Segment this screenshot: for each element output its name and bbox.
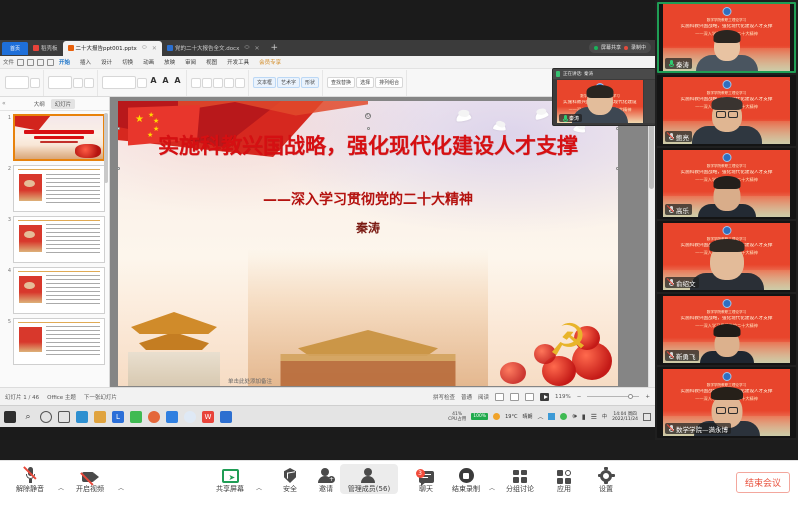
save-icon[interactable] [17, 59, 24, 66]
zoom-in-button[interactable]: + [645, 394, 650, 400]
ribbon-tab-design[interactable]: 设计 [96, 58, 117, 66]
decrease-font-icon[interactable]: A [160, 76, 171, 89]
p1-slide-line1: 数学学院教职工理论学习 [669, 91, 784, 96]
weather-text: 晴朗 [522, 413, 532, 420]
speaker-pip-window[interactable]: 正在讲话: 秦涛 数学学院教职工理论学习 实施科教兴国战略，强化现代化建设人才支… [552, 68, 655, 126]
participant-name-2: 高乐 [676, 205, 689, 215]
pip-video-feed: 数学学院教职工理论学习 实施科教兴国战略，强化现代化建设人才支撑 ——深入学习贯… [557, 80, 643, 123]
share-screen-icon: ➤ [222, 464, 239, 483]
ribbon-tab-animation[interactable]: 动画 [138, 58, 159, 66]
meeting-control-bar[interactable]: 解除静音 ︿ 开启视频 ︿ ➤ 共享屏幕 ︿ 安全 + 邀请 [0, 460, 798, 505]
chat-unread-badge: 3 [416, 469, 425, 478]
volume-icon[interactable]: 🕪 [572, 412, 576, 421]
control-apps[interactable]: 应用 [542, 464, 586, 494]
ribbon-group-drawing[interactable]: 文本框 艺术字 形状 [250, 70, 323, 96]
tab-close-icon[interactable]: ✕ [152, 45, 157, 52]
share-status-dot [594, 46, 598, 50]
selection-handle-br[interactable] [616, 127, 618, 130]
thumbnail-1[interactable]: 1 [4, 114, 105, 161]
textbox-button[interactable]: 文本框 [253, 77, 276, 88]
thumbnail-1-box[interactable] [13, 114, 105, 161]
p0-hair [713, 30, 740, 43]
ribbon-group-clipboard[interactable] [2, 70, 44, 96]
participant-name-3: 俞绍文 [676, 278, 696, 288]
thumbnail-4-preview [14, 268, 104, 313]
print-icon[interactable] [27, 59, 34, 66]
tab2-restore-icon[interactable]: ⬭ [244, 44, 249, 52]
thumbnail-3-number: 3 [4, 216, 11, 263]
control-start-video-label: 开启视频 [76, 484, 104, 494]
battery-indicator[interactable]: 100% [471, 413, 488, 420]
weather-temp: 19°C [505, 414, 517, 420]
participant-name-badge-4: 靳勇飞 [665, 350, 699, 361]
slideshow-button[interactable] [540, 393, 549, 401]
wps-home-tab[interactable]: 首页 [2, 42, 28, 55]
theme-indicator[interactable]: Office 主题 [47, 393, 76, 401]
participant-name-badge-1: 鲍亮 [665, 131, 692, 142]
thumbnail-5-number: 5 [4, 318, 11, 365]
control-stop-recording[interactable]: 结束录制 [444, 464, 488, 494]
ribbon-group-paragraph[interactable] [188, 70, 249, 96]
participant-name-badge-3: 俞绍文 [665, 277, 699, 288]
shared-desktop: 首页 稻壳板 二十大报告ppt001.pptx ⬭ ✕ 党的二十大报告全文.do… [0, 0, 655, 440]
thumbnail-2-preview [14, 166, 104, 211]
shield-icon [284, 464, 296, 483]
p4-hair [713, 324, 740, 337]
ime-mode[interactable]: 中 [602, 413, 607, 420]
mic-muted-icon-5 [668, 425, 674, 433]
zoom-meeting-window: 首页 稻壳板 二十大报告ppt001.pptx ⬭ ✕ 党的二十大报告全文.do… [0, 0, 798, 505]
current-slide[interactable]: ★ ★ ★ ★ ★ [118, 101, 618, 386]
participant-name-1: 鲍亮 [676, 132, 689, 142]
network-icon[interactable]: ▮ [582, 413, 586, 421]
p1-glasses-icon [716, 111, 738, 116]
chart-app-icon[interactable] [220, 411, 232, 423]
participant-tile-5[interactable]: 数学学院教职工理论学习 实施科教兴国战略，强化现代化建设人才支撑 ——深入学习贯… [657, 367, 796, 438]
spellcheck-label[interactable]: 拼写检查 [433, 393, 455, 401]
outline-tab[interactable]: 大纲 [34, 100, 45, 108]
stop-record-icon [459, 464, 474, 483]
unmute-caret-icon[interactable]: ︿ [58, 483, 64, 492]
mic-muted-icon-2 [668, 206, 674, 214]
ribbon-tab-slideshow[interactable]: 放映 [159, 58, 180, 66]
align-left-icon[interactable] [213, 78, 223, 88]
thumbnail-3-preview [14, 217, 104, 262]
docx-file-icon [167, 45, 173, 51]
control-security-label: 安全 [283, 484, 297, 494]
thumbnail-2-number: 2 [4, 165, 11, 212]
pip-mic-on-icon [562, 115, 567, 121]
thumbnail-5-box[interactable] [13, 318, 105, 365]
chat-icon: 3 [419, 464, 434, 483]
collapse-panel-icon[interactable]: « [2, 100, 6, 107]
thumbnail-scrollbar[interactable] [104, 113, 108, 183]
control-breakout-rooms[interactable]: 分组讨论 [498, 464, 542, 494]
slides-tab[interactable]: 幻灯片 [51, 99, 76, 109]
mic-muted-icon-1 [668, 133, 674, 141]
control-invite-label: 邀请 [319, 484, 333, 494]
canvas-scrollbar[interactable] [648, 97, 655, 387]
end-meeting-button[interactable]: 结束会议 [736, 472, 790, 493]
clear-format-icon[interactable]: A [172, 76, 183, 89]
control-apps-label: 应用 [557, 484, 571, 494]
next-slide-indicator[interactable]: 下一张幻灯片 [84, 393, 117, 401]
undo-icon[interactable] [37, 59, 44, 66]
zoom-slider[interactable] [587, 396, 639, 397]
font-family-select[interactable] [102, 76, 136, 89]
video-caret-icon[interactable]: ︿ [118, 483, 124, 492]
ime-menu-icon[interactable]: ☰ [591, 413, 597, 421]
paste-button[interactable] [5, 76, 29, 89]
thumbnail-list[interactable]: 1 [0, 111, 109, 387]
wechat-icon[interactable] [130, 411, 142, 423]
invite-person-icon: + [318, 464, 334, 483]
mic-muted-icon-4 [668, 352, 674, 360]
participant-name-badge-0: 秦涛 [665, 58, 692, 69]
control-manage-participants-label: 管理成员(56) [348, 484, 390, 494]
shared-screen-stage[interactable]: 首页 稻壳板 二十大报告ppt001.pptx ⬭ ✕ 党的二十大报告全文.do… [0, 0, 655, 440]
view-sorter-button[interactable] [510, 393, 519, 401]
thumbnail-5[interactable]: 5 [4, 318, 105, 365]
thumbnail-4[interactable]: 4 [4, 267, 105, 314]
p0-emblem-icon [722, 7, 731, 16]
participants-icon [361, 464, 377, 483]
slide-thumbnail-panel[interactable]: « 大纲 幻灯片 1 [0, 97, 110, 387]
pip-name: 秦涛 [569, 115, 579, 122]
search-icon[interactable]: ⌕ [22, 411, 34, 423]
pip-title-bar[interactable]: 正在讲话: 秦涛 [553, 69, 655, 79]
p0-slide-line1: 数学学院教职工理论学习 [669, 18, 784, 23]
wps-template-tab-label: 稻壳板 [41, 44, 58, 52]
notes-placeholder[interactable]: 单击此处添加备注 [228, 377, 272, 385]
ribbon-tab-review[interactable]: 审阅 [180, 58, 201, 66]
pip-mic-icon [556, 71, 560, 77]
tray-app-icon-2[interactable] [560, 413, 567, 420]
selection-handle-tr[interactable] [616, 167, 618, 170]
arrange-button[interactable]: 排列组合 [375, 77, 403, 88]
letterbox-bottom [0, 427, 655, 440]
align-center-icon[interactable] [224, 78, 234, 88]
shapes-button[interactable]: 形状 [301, 77, 319, 88]
tiananmen-gate-graphic [248, 249, 488, 386]
participant-name-4: 靳勇飞 [676, 351, 696, 361]
temple-of-heaven-graphic [126, 312, 222, 386]
task-view-icon[interactable] [58, 411, 70, 423]
p3-emblem-icon [722, 226, 731, 235]
thumbnail-4-box[interactable] [13, 267, 105, 314]
record-caret-icon[interactable]: ︿ [489, 483, 495, 492]
ribbon-tab-view[interactable]: 视图 [201, 58, 222, 66]
wps-doc-tab-ppt-label: 二十大报告ppt001.pptx [76, 44, 137, 52]
select-button[interactable]: 选择 [356, 77, 374, 88]
view-reading-button[interactable] [525, 393, 534, 401]
thumbnail-1-number: 1 [4, 114, 11, 161]
screen-share-indicator: 屏幕共享 录制中 [589, 42, 651, 53]
edge-icon[interactable] [184, 411, 196, 423]
ribbon-tab-developer[interactable]: 开发工具 [222, 58, 254, 66]
wps-tab-strip: 首页 稻壳板 二十大报告ppt001.pptx ⬭ ✕ 党的二十大报告全文.do… [0, 40, 655, 56]
font-size-select[interactable] [137, 78, 147, 88]
slide-subtitle: ——深入学习贯彻党的二十大精神 [140, 189, 596, 209]
slide-author: 秦涛 [140, 219, 596, 236]
control-chat[interactable]: 3 聊天 [404, 464, 448, 494]
breakout-rooms-icon [512, 464, 528, 483]
tray-expand-icon[interactable]: ︿ [537, 412, 543, 421]
p2-slide-line2: 实施科教兴国战略，强化现代化建设人才支撑 [669, 170, 784, 175]
view-normal-button[interactable] [495, 393, 504, 401]
letterbox-top [0, 0, 655, 40]
wps-template-tab[interactable]: 稻壳板 [28, 41, 63, 56]
quick-access-toolbar[interactable]: 文件 [0, 58, 54, 66]
status-right-group: 拼写检查 普通 阅读 119% − + [433, 393, 650, 401]
participant-tile-2[interactable]: 数学学院教职工理论学习 实施科教兴国战略，强化现代化建设人才支撑 ——深入学习贯… [657, 148, 796, 219]
action-center-icon[interactable] [643, 413, 651, 421]
find-replace-button[interactable]: 查找替换 [327, 77, 355, 88]
store-icon[interactable] [76, 411, 88, 423]
pip-side-controls[interactable] [644, 80, 655, 123]
thumbnail-2[interactable]: 2 [4, 165, 105, 212]
mic-muted-icon-3 [668, 279, 674, 287]
control-share-screen-label: 共享屏幕 [216, 484, 244, 494]
p4-emblem-icon [722, 299, 731, 308]
clock-date: 2022/11/24 [612, 417, 638, 422]
party-emblem-graphic: ☭ [542, 318, 594, 368]
participant-tile-3[interactable]: 数学学院教职工理论学习 实施科教兴国战略，强化现代化建设人才支撑 ——深入学习贯… [657, 221, 796, 292]
cpu-usage: 41% CPU占用 [448, 412, 466, 422]
participant-name-badge-5: 数学学院—满永博 [665, 423, 731, 434]
record-status-label: 录制中 [631, 44, 646, 51]
lark-icon[interactable]: L [112, 411, 124, 423]
record-status-dot [624, 46, 628, 50]
thumbnail-2-box[interactable] [13, 165, 105, 212]
mic-muted-icon [25, 464, 36, 483]
participant-tile-4[interactable]: 数学学院教职工理论学习 实施科教兴国战略，强化现代化建设人才支撑 ——深入学习贯… [657, 294, 796, 365]
new-tab-button[interactable]: + [271, 43, 279, 53]
new-slide-button[interactable] [48, 76, 72, 89]
control-share-screen[interactable]: ➤ 共享屏幕 [208, 464, 252, 494]
tray-app-icon-1[interactable] [548, 413, 555, 420]
browser-icon[interactable] [148, 411, 160, 423]
redo-icon[interactable] [47, 59, 54, 66]
share-status-label: 屏幕共享 [601, 44, 621, 51]
wordart-button[interactable]: 艺术字 [277, 77, 300, 88]
ribbon-tab-insert[interactable]: 插入 [75, 58, 96, 66]
file-explorer-icon[interactable] [94, 411, 106, 423]
thumbnail-3-box[interactable] [13, 216, 105, 263]
ribbon-tab-vip[interactable]: 会员专享 [254, 58, 286, 66]
wps-doc-tab-docx[interactable]: 党的二十大报告全文.docx ⬭ ✕ [162, 41, 265, 56]
system-tray: 41% CPU占用 100% 19°C 晴朗 ︿ 🕪 ▮ ☰ 中 14:04 周 [448, 412, 651, 422]
thumbnail-panel-header: 大纲 幻灯片 [0, 97, 109, 111]
slide-title: 实施科教兴国战略，强化现代化建设人才支撑 [140, 133, 596, 160]
layout-icon[interactable] [73, 78, 83, 88]
participant-tile-0[interactable]: 数学学院教职工理论学习 实施科教兴国战略，强化现代化建设人才支撑 ——深入学习贯… [657, 2, 796, 73]
reset-icon[interactable] [84, 78, 94, 88]
control-unmute-label: 解除静音 [16, 484, 44, 494]
zoom-level[interactable]: 119% [555, 394, 571, 400]
rotation-handle[interactable]: ↻ [365, 113, 371, 119]
participant-video-strip[interactable]: 数学学院教职工理论学习 实施科教兴国战略，强化现代化建设人才支撑 ——深入学习贯… [655, 0, 798, 440]
p2-hair [713, 176, 740, 189]
ribbon-group-slides[interactable] [45, 70, 98, 96]
mic-on-icon-0 [668, 60, 674, 68]
tab-restore-icon[interactable]: ⬭ [142, 44, 147, 52]
ribbon-group-editing[interactable]: 查找替换 选择 排列组合 [324, 70, 407, 96]
selection-handle-tm[interactable] [367, 127, 370, 130]
p5-hair [711, 387, 743, 400]
pptx-file-icon [68, 45, 74, 51]
participant-name-5: 数学学院—满永博 [676, 424, 728, 434]
wps-doc-tab-ppt[interactable]: 二十大报告ppt001.pptx ⬭ ✕ [63, 41, 162, 56]
p5-emblem-icon [722, 372, 731, 381]
bullets-icon[interactable] [191, 78, 201, 88]
template-icon [33, 45, 39, 51]
increase-font-icon[interactable]: A [148, 76, 159, 89]
pip-name-badge: 秦涛 [559, 114, 582, 122]
line-spacing-icon[interactable] [235, 78, 245, 88]
gear-icon [599, 464, 614, 483]
thumbnail-5-preview [14, 319, 104, 364]
view-reading-label[interactable]: 阅读 [478, 393, 489, 401]
view-normal-label[interactable]: 普通 [461, 393, 472, 401]
mail-icon[interactable] [166, 411, 178, 423]
control-settings[interactable]: 设置 [584, 464, 628, 494]
p4-slide-line2: 实施科教兴国战略，强化现代化建设人才支撑 [669, 316, 784, 321]
thumbnail-3[interactable]: 3 [4, 216, 105, 263]
control-unmute[interactable]: 解除静音 [8, 464, 52, 494]
p1-hair [711, 97, 742, 110]
p5-glasses-icon [716, 407, 738, 412]
p2-emblem-icon [722, 153, 731, 162]
pip-speaker-label: 正在讲话: 秦涛 [563, 71, 593, 77]
apps-icon [556, 464, 572, 483]
windows-taskbar[interactable]: ⌕ L W 41% CPU占用 100% [0, 405, 655, 427]
participant-tile-1[interactable]: 数学学院教职工理论学习 实施科教兴国战略，强化现代化建设人才支撑 ——深入学习贯… [657, 75, 796, 146]
numbering-icon[interactable] [202, 78, 212, 88]
control-settings-label: 设置 [599, 484, 613, 494]
slide-canvas-area[interactable]: ★ ★ ★ ★ ★ [110, 97, 655, 387]
p3-hair [709, 239, 744, 252]
file-menu-label[interactable]: 文件 [3, 58, 14, 66]
tab2-close-icon[interactable]: ✕ [254, 45, 259, 52]
p1-emblem-icon [722, 80, 731, 89]
participant-name-0: 秦涛 [676, 59, 689, 69]
weather-sun-icon [493, 413, 500, 420]
ribbon-tab-start[interactable]: 开始 [54, 58, 75, 66]
p2-slide-line1: 数学学院教职工理论学习 [669, 164, 784, 169]
ribbon-tab-transition[interactable]: 切换 [117, 58, 138, 66]
start-button-icon[interactable] [4, 411, 16, 423]
p4-slide-line1: 数学学院教职工理论学习 [669, 310, 784, 315]
wps-taskbar-icon[interactable]: W [202, 411, 214, 423]
wps-doc-tab-docx-label: 党的二十大报告全文.docx [175, 44, 239, 52]
camera-off-icon [82, 464, 99, 483]
thumbnail-1-preview [15, 116, 103, 159]
thumbnail-4-number: 4 [4, 267, 11, 314]
zoom-out-button[interactable]: − [577, 394, 582, 400]
cpu-usage-label: CPU占用 [448, 417, 466, 422]
ribbon-group-font[interactable]: A A A [99, 70, 187, 96]
control-breakout-rooms-label: 分组讨论 [506, 484, 534, 494]
control-manage-participants[interactable]: 管理成员(56) [340, 464, 398, 494]
control-stop-recording-label: 结束录制 [452, 484, 480, 494]
control-start-video[interactable]: 开启视频 [68, 464, 112, 494]
cortana-icon[interactable] [40, 411, 52, 423]
clock[interactable]: 14:04 周四 2022/11/24 [612, 412, 638, 422]
wps-status-bar: 幻灯片 1 / 46 Office 主题 下一张幻灯片 拼写检查 普通 阅读 1… [0, 387, 655, 405]
slide-page-indicator: 幻灯片 1 / 46 [5, 393, 39, 401]
zoom-slider-knob[interactable] [628, 394, 633, 399]
p0-slide-line2: 实施科教兴国战略，强化现代化建设人才支撑 [669, 24, 784, 29]
share-caret-icon[interactable]: ︿ [256, 483, 262, 492]
participant-name-badge-2: 高乐 [665, 204, 692, 215]
format-painter-icon[interactable] [30, 78, 40, 88]
